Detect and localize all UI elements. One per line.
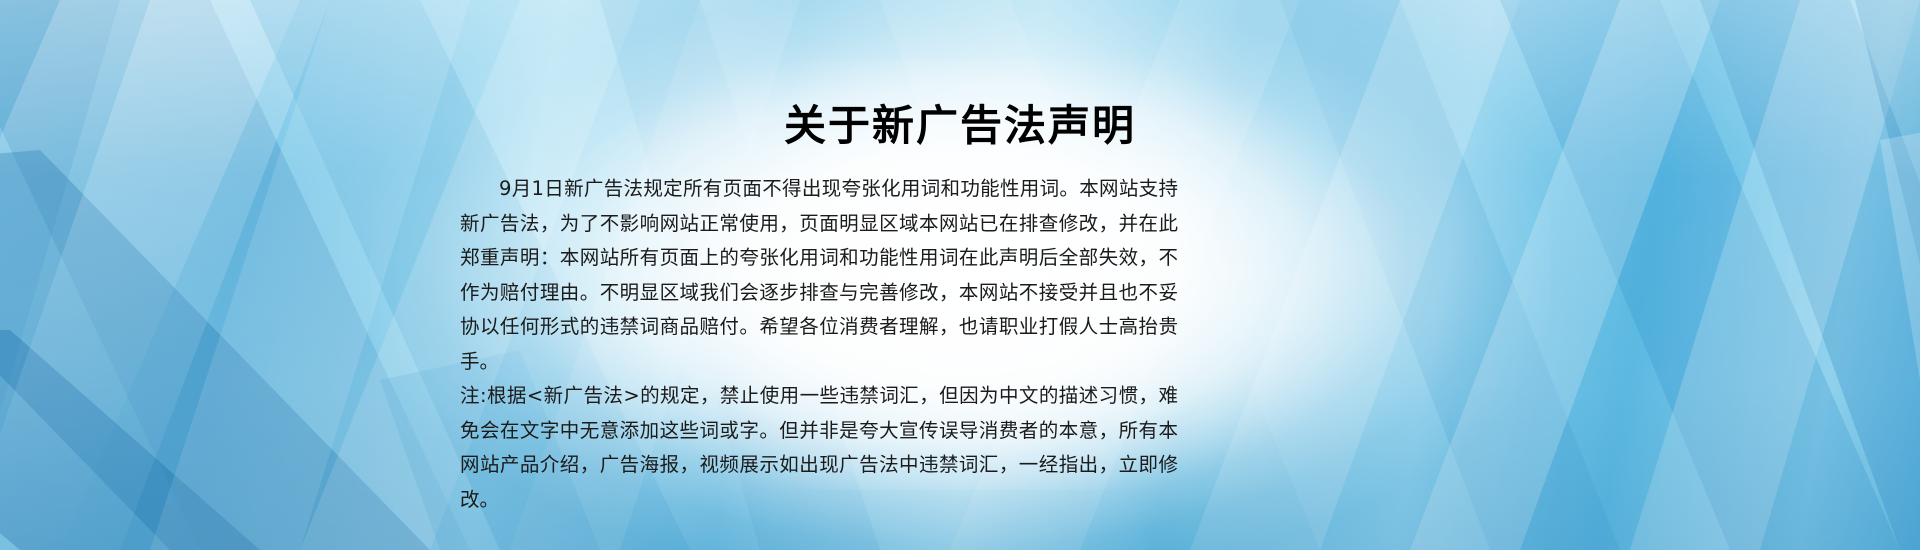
statement-paragraph-note: 注:根据<新广告法>的规定，禁止使用一些违禁词汇，但因为中文的描述习惯，难免会在… [460, 379, 1178, 517]
advertising-law-statement-banner: 关于新广告法声明 9月1日新广告法规定所有页面不得出现夸张化用词和功能性用词。本… [0, 0, 1920, 550]
statement-paragraph-main: 9月1日新广告法规定所有页面不得出现夸张化用词和功能性用词。本网站支持新广告法，… [460, 172, 1178, 379]
page-title: 关于新广告法声明 [0, 92, 1920, 153]
statement-body: 9月1日新广告法规定所有页面不得出现夸张化用词和功能性用词。本网站支持新广告法，… [460, 172, 1178, 517]
statement-content: 关于新广告法声明 9月1日新广告法规定所有页面不得出现夸张化用词和功能性用词。本… [0, 0, 1920, 550]
